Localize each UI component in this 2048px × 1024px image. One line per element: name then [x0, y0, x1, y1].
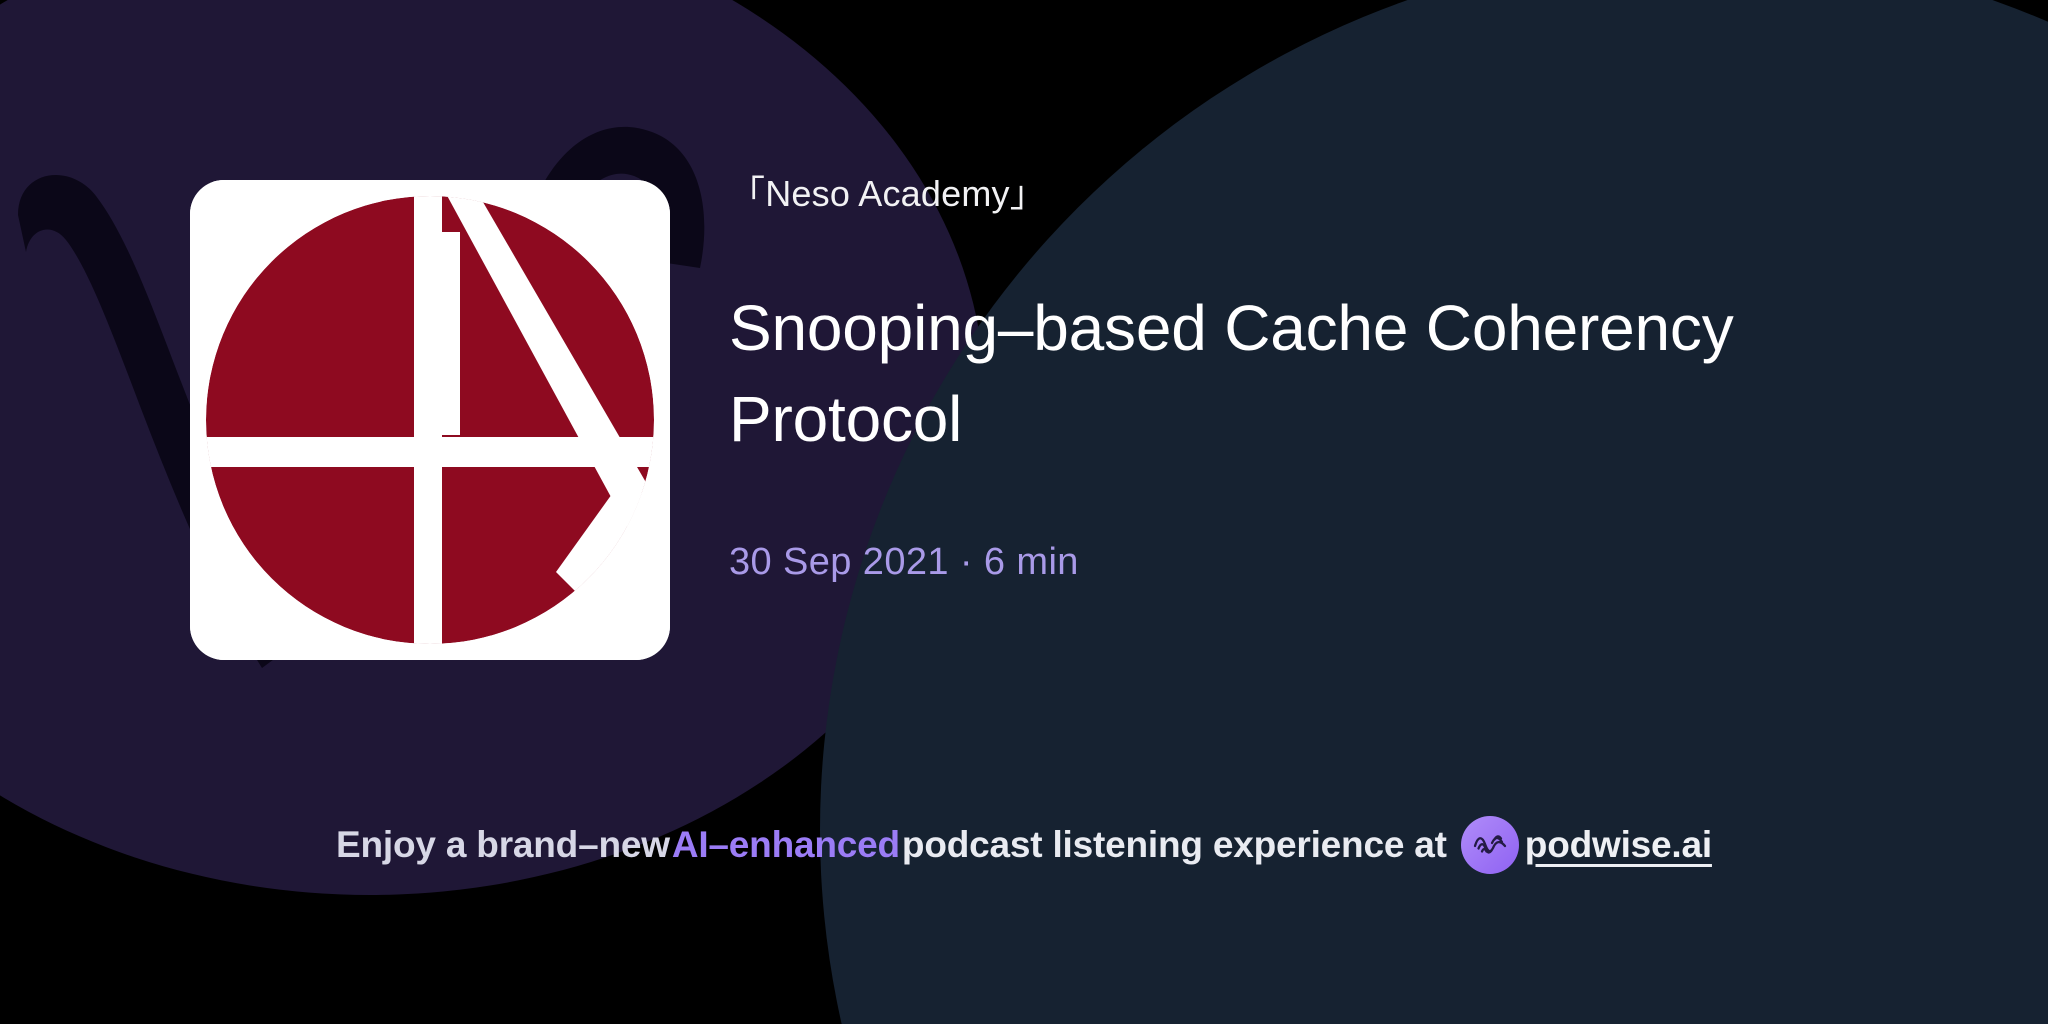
podwise-link[interactable]: podwise.ai: [1461, 816, 1712, 874]
podcast-share-card: 「Neso Academy」 Snooping–based Cache Cohe…: [0, 0, 2048, 1024]
footer-bar: Enjoy a brand–new AI–enhanced podcast li…: [0, 805, 2048, 885]
tagline-accent-text: AI–enhanced: [670, 823, 902, 867]
tagline-rest-text: podcast listening experience at: [902, 823, 1447, 867]
neso-academy-logo-icon: [190, 180, 670, 660]
tagline-lead-text: Enjoy a brand–new: [336, 823, 670, 867]
promo-tagline: Enjoy a brand–new AI–enhanced podcast li…: [336, 816, 1712, 874]
podwise-domain-text[interactable]: podwise.ai: [1525, 823, 1712, 867]
podcast-name: 「Neso Academy」: [729, 172, 1959, 216]
podwise-waveform-icon: [1461, 816, 1519, 874]
episode-meta-column: 「Neso Academy」 Snooping–based Cache Cohe…: [729, 172, 1959, 585]
episode-title: Snooping–based Cache Coherency Protocol: [729, 283, 1919, 465]
episode-date-duration: 30 Sep 2021 · 6 min: [729, 539, 1959, 585]
podcast-artwork[interactable]: [190, 180, 670, 660]
card-content: 「Neso Academy」 Snooping–based Cache Cohe…: [0, 0, 2048, 1024]
